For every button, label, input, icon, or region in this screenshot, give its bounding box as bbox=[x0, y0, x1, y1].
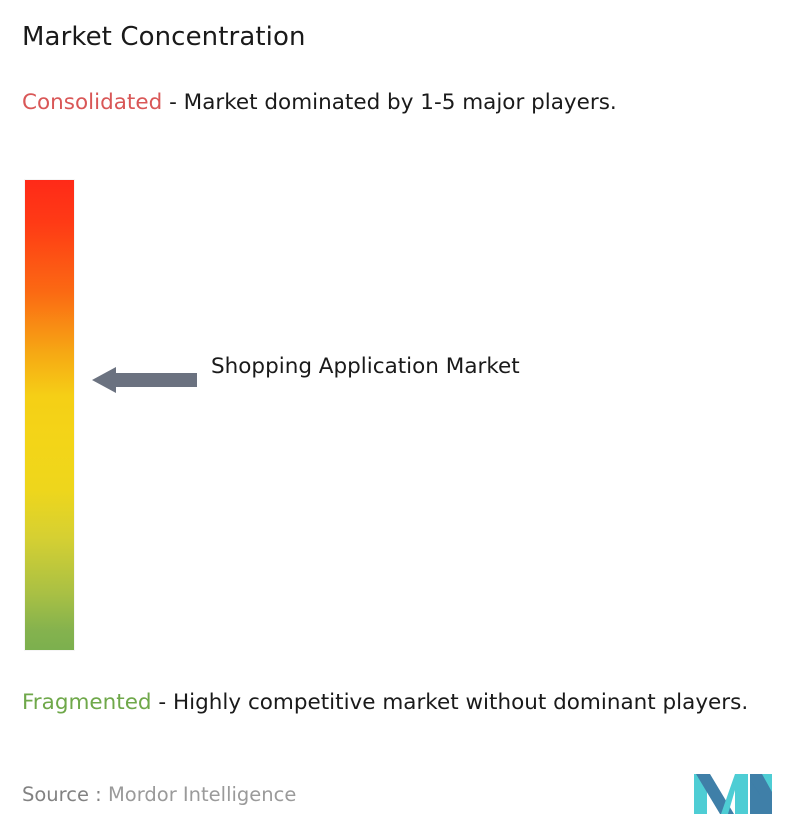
fragmented-description: Fragmented - Highly competitive market w… bbox=[22, 687, 780, 719]
source-value: Mordor Intelligence bbox=[108, 783, 296, 806]
source-label: Source : bbox=[22, 783, 102, 806]
page-title: Market Concentration bbox=[22, 21, 306, 53]
fragmented-description-text: - Highly competitive market without domi… bbox=[152, 690, 749, 715]
market-annotation-label: Shopping Application Market bbox=[211, 349, 551, 385]
consolidated-description-text: - Market dominated by 1-5 major players. bbox=[162, 90, 617, 115]
mordor-intelligence-logo-icon bbox=[694, 770, 772, 818]
left-arrow-icon bbox=[92, 366, 197, 394]
legend-term-fragmented: Fragmented bbox=[22, 690, 152, 715]
market-concentration-scale-bar bbox=[25, 180, 74, 650]
consolidated-description: Consolidated - Market dominated by 1-5 m… bbox=[22, 87, 780, 119]
source-line: Source : Mordor Intelligence bbox=[22, 782, 296, 808]
legend-term-consolidated: Consolidated bbox=[22, 90, 162, 115]
